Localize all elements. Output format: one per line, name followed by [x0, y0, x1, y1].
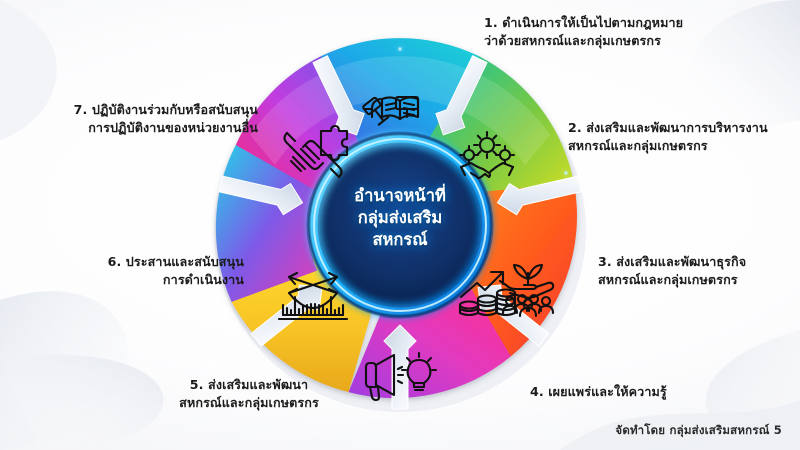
label-segment-6: 6. ประสานและสนับสนุน การดำเนินงาน — [36, 253, 244, 289]
wheel-svg — [180, 25, 620, 425]
process-wheel — [180, 25, 620, 425]
label-segment-7: 7. ปฏิบัติงานร่วมกับหรือสนับสนุน การปฏิบ… — [14, 101, 258, 137]
label-segment-5: 5. ส่งเสริมและพัฒนา สหกรณ์และกลุ่มเกษตรก… — [130, 376, 368, 412]
infographic-canvas: อำนาจหน้าที่ กลุ่มส่งเสริม สหกรณ์ 1. ดำเ… — [0, 0, 800, 450]
label-segment-4: 4. เผยแพร่และให้ความรู้ — [530, 383, 760, 401]
label-segment-3: 3. ส่งเสริมและพัฒนาธุรกิจ สหกรณ์และกลุ่ม… — [598, 253, 800, 289]
label-segment-2: 2. ส่งเสริมและพัฒนาการบริหารงาน สหกรณ์แล… — [568, 119, 800, 155]
label-segment-1: 1. ดำเนินการให้เป็นไปตามกฎหมาย ว่าด้วยสห… — [484, 14, 792, 50]
footer-credit: จัดทำโดย กลุ่มส่งเสริมสหกรณ์ 5 — [615, 422, 782, 440]
